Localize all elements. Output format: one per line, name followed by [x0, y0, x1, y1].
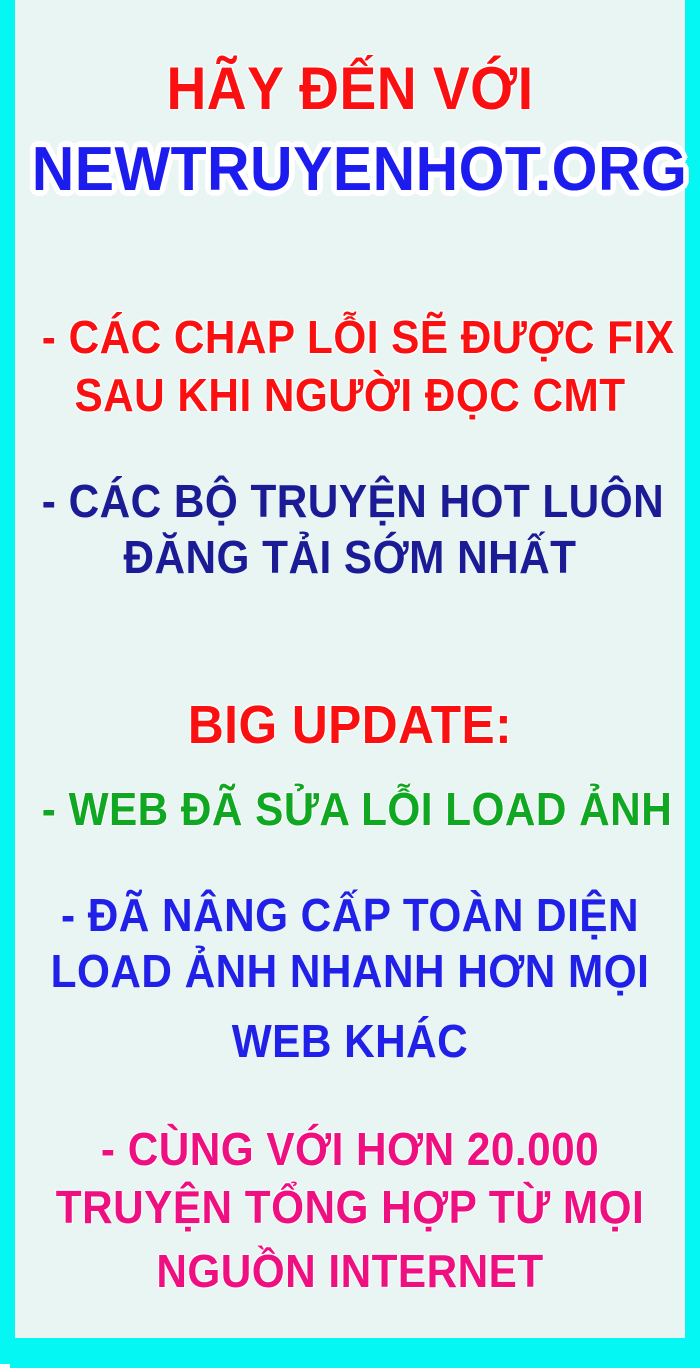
update-item-3-line-3: NGUỒN INTERNET — [42, 1248, 658, 1295]
headline-primary: HÃY ĐẾN VỚI — [42, 58, 658, 119]
announcement-banner: HÃY ĐẾN VỚI NEWTRUYENHOT.ORG - CÁC CHAP … — [0, 0, 700, 1368]
update-section-title: BIG UPDATE: — [42, 698, 658, 753]
banner-inner-panel: HÃY ĐẾN VỚI NEWTRUYENHOT.ORG - CÁC CHAP … — [15, 0, 685, 1342]
update-item-2-line-2: LOAD ẢNH NHANH HƠN MỌI — [42, 948, 658, 995]
update-item-1-line-1: - WEB ĐÃ SỬA LỖI LOAD ẢNH — [42, 786, 658, 833]
update-item-3-line-2: TRUYỆN TỔNG HỢP TỪ MỌI — [42, 1184, 658, 1231]
note-2-line-2: ĐĂNG TẢI SỚM NHẤT — [42, 534, 658, 581]
update-item-2-line-1: - ĐÃ NÂNG CẤP TOÀN DIỆN — [42, 892, 658, 939]
note-1-line-2: SAU KHI NGƯỜI ĐỌC CMT — [42, 372, 658, 419]
bottom-cyan-edge — [10, 1364, 700, 1368]
update-item-3-line-1: - CÙNG VỚI HƠN 20.000 — [42, 1126, 658, 1173]
bottom-cyan-band — [0, 1338, 700, 1364]
update-item-2-line-3: WEB KHÁC — [42, 1018, 658, 1065]
site-url-text[interactable]: NEWTRUYENHOT.ORG — [32, 138, 669, 201]
note-1-line-1: - CÁC CHAP LỖI SẼ ĐƯỢC FIX — [42, 314, 658, 361]
note-2-line-1: - CÁC BỘ TRUYỆN HOT LUÔN — [42, 478, 658, 525]
